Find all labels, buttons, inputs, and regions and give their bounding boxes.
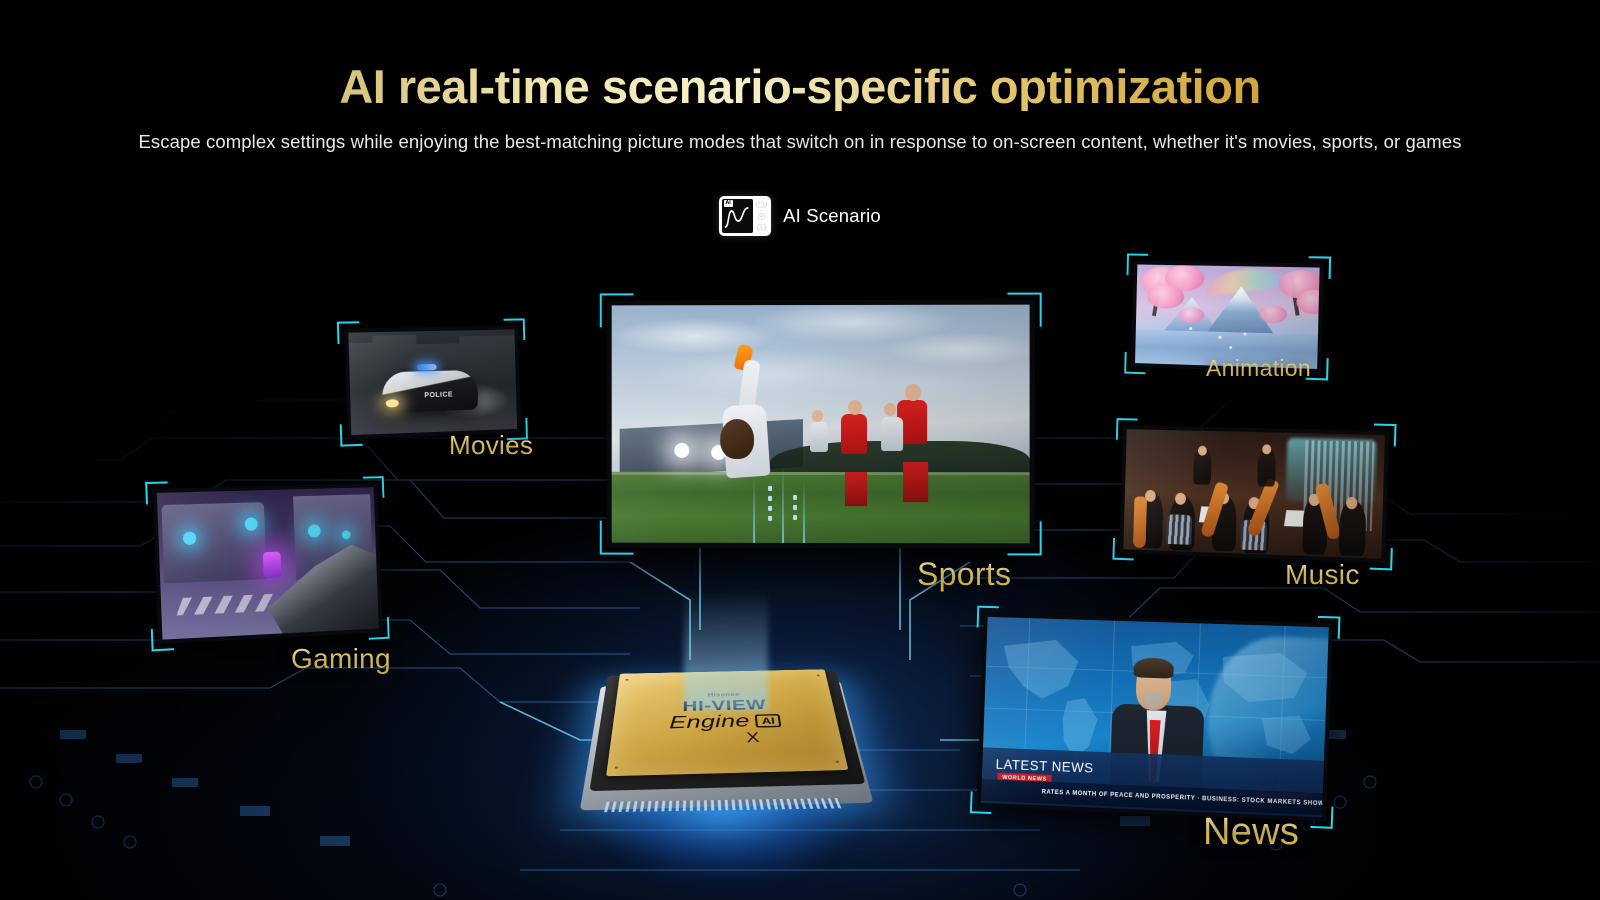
tv-screen-sports	[612, 305, 1030, 544]
tv-screen-movies: POLICE	[348, 329, 517, 435]
chip-light-beam	[684, 590, 768, 710]
panel-label-news: News	[1203, 811, 1299, 854]
panel-news[interactable]: LATEST NEWS WORLD NEWS DAILY REPORT RATE…	[977, 613, 1333, 822]
tv-screen-gaming	[157, 487, 379, 639]
page-subtitle: Escape complex settings while enjoying t…	[0, 130, 1600, 155]
tv-screen-animation	[1135, 264, 1320, 368]
tv-frame-gaming	[153, 483, 383, 644]
police-text: POLICE	[424, 391, 453, 399]
tv-frame-news: LATEST NEWS WORLD NEWS DAILY REPORT RATE…	[977, 613, 1333, 822]
tv-frame-sports	[607, 300, 1035, 549]
tv-screen-music	[1123, 429, 1385, 559]
soccer-ball-icon	[756, 212, 767, 221]
panel-gaming[interactable]	[153, 483, 383, 644]
hi-view-engine-chip: Hisense HI-VIEW Engine AI X	[566, 598, 882, 848]
chip-line-2: Engine	[669, 712, 750, 731]
ai-scenario-label: AI Scenario	[783, 205, 881, 227]
ai-scenario-icon: AI	[719, 196, 771, 236]
panel-label-music: Music	[1285, 559, 1360, 591]
ai-scenario-screen: AI	[722, 199, 753, 233]
tv-frame-movies: POLICE	[344, 325, 521, 439]
panel-sports[interactable]	[607, 300, 1035, 549]
ai-scenario-badge[interactable]: AI AI Scenario	[0, 196, 1600, 236]
header: AI real-time scenario-specific optimizat…	[0, 62, 1600, 155]
panel-label-movies: Movies	[449, 430, 533, 461]
panel-movies[interactable]: POLICE	[344, 325, 521, 439]
panel-label-sports: Sports	[917, 556, 1011, 593]
film-icon	[756, 223, 767, 232]
ai-scenario-mini-icons	[755, 199, 768, 233]
gamepad-icon	[756, 200, 767, 209]
tv-frame-music	[1119, 425, 1389, 563]
police-lightbar	[417, 364, 437, 371]
page-title: AI real-time scenario-specific optimizat…	[0, 62, 1600, 111]
chip-line-3: X	[746, 730, 761, 746]
panel-music[interactable]	[1119, 425, 1389, 563]
panel-label-animation: Animation	[1206, 355, 1311, 382]
panel-label-gaming: Gaming	[291, 643, 391, 675]
signal-curve-icon	[722, 199, 753, 233]
chip-ai-badge: AI	[755, 714, 782, 728]
tv-screen-news: LATEST NEWS WORLD NEWS DAILY REPORT RATE…	[981, 617, 1329, 817]
scene-stage: AI real-time scenario-specific optimizat…	[0, 0, 1600, 900]
